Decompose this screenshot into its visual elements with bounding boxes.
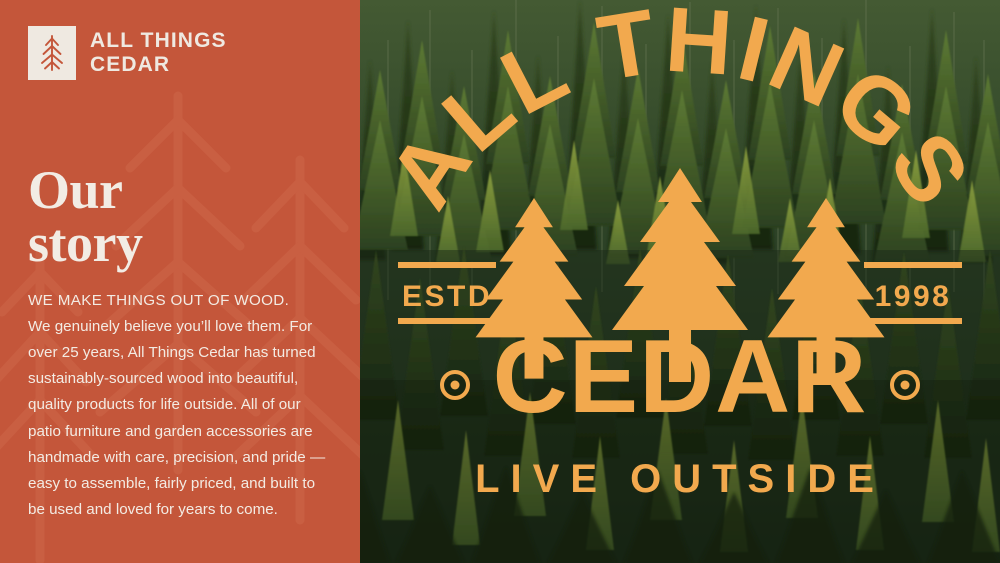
logo-wordmark: ALL THINGS CEDAR (90, 29, 227, 78)
page-title: Our story (28, 164, 332, 270)
badge-ornament-left (442, 372, 468, 398)
badge-main-word: CEDAR (493, 319, 868, 435)
cedar-badge-logo: ALL THINGS ESTD (360, 0, 1000, 563)
logo-line-1: ALL THINGS (90, 29, 227, 53)
badge-year-block: 1998 (864, 262, 962, 324)
logo-mark-tile (28, 26, 76, 80)
pine-tree-icon (37, 33, 67, 73)
about-paragraph: We genuinely believe you’ll love them. F… (28, 318, 325, 518)
badge-estd-label: ESTD (402, 280, 492, 313)
badge-ornament-right (892, 372, 918, 398)
about-body-copy: WE MAKE THINGS OUT OF WOOD. We genuinely… (28, 288, 332, 523)
about-lead-line: WE MAKE THINGS OUT OF WOOD. (28, 288, 332, 314)
logo-line-2: CEDAR (90, 53, 227, 77)
left-panel-content: ALL THINGS CEDAR Our story WE MAKE THING… (0, 0, 360, 563)
badge-year-label: 1998 (875, 280, 952, 313)
left-panel: ALL THINGS CEDAR Our story WE MAKE THING… (0, 0, 360, 563)
badge-estd-block: ESTD (398, 262, 496, 324)
page-title-line-1: Our (28, 164, 332, 217)
badge-tagline: LIVE OUTSIDE (475, 457, 885, 501)
right-panel: ALL THINGS ESTD (360, 0, 1000, 563)
page-title-line-2: story (28, 217, 332, 270)
brand-logo[interactable]: ALL THINGS CEDAR (28, 26, 332, 80)
about-us-banner: ALL THINGS CEDAR Our story WE MAKE THING… (0, 0, 1000, 563)
